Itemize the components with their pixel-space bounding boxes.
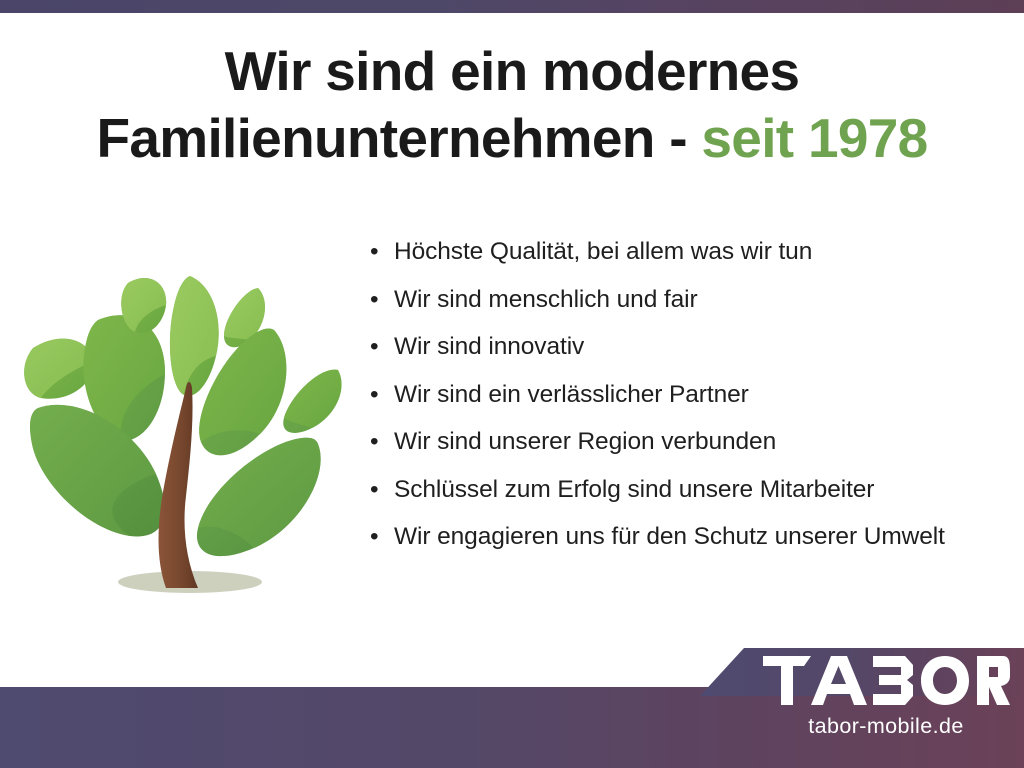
slide-canvas: Wir sind ein modernes Familienunternehme…: [0, 0, 1024, 768]
list-item: • Wir sind innovativ: [366, 335, 1016, 360]
leaf-top-center: [170, 276, 219, 396]
tree-illustration: [18, 248, 348, 608]
list-item: • Wir sind ein verlässlicher Partner: [366, 383, 1016, 408]
list-item-label: Schlüssel zum Erfolg sind unsere Mitarbe…: [394, 476, 874, 503]
bullet-marker-icon: •: [370, 240, 378, 265]
bullet-marker-icon: •: [370, 525, 378, 550]
list-item-label: Wir sind menschlich und fair: [394, 286, 698, 313]
list-item-label: Wir sind ein verlässlicher Partner: [394, 381, 749, 408]
leaf-lower-right-large: [197, 438, 321, 556]
value-bullet-list: • Höchste Qualität, bei allem was wir tu…: [366, 240, 1016, 550]
list-item: • Schlüssel zum Erfolg sind unsere Mitar…: [366, 478, 1016, 503]
list-item-label: Höchste Qualität, bei allem was wir tun: [394, 238, 812, 265]
page-title: Wir sind ein modernes Familienunternehme…: [0, 42, 1024, 169]
title-accent-year: seit 1978: [701, 107, 927, 169]
bullet-marker-icon: •: [370, 478, 378, 503]
title-line-two: Familienunternehmen - seit 1978: [0, 109, 1024, 168]
tabor-wordmark-logo: [763, 656, 1010, 705]
brand-logo: tabor-mobile.de: [760, 656, 1012, 739]
list-item: • Wir sind unserer Region verbunden: [366, 430, 1016, 455]
list-item-label: Wir engagieren uns für den Schutz unsere…: [394, 523, 945, 550]
list-item-label: Wir sind innovativ: [394, 333, 584, 360]
leaf-right-small: [283, 370, 341, 433]
bullet-marker-icon: •: [370, 335, 378, 360]
bullet-marker-icon: •: [370, 430, 378, 455]
tree-trunk: [159, 382, 198, 588]
top-accent-bar: [0, 0, 1024, 13]
list-item: • Wir engagieren uns für den Schutz unse…: [366, 525, 1016, 550]
list-item-label: Wir sind unserer Region verbunden: [394, 428, 776, 455]
bullet-marker-icon: •: [370, 288, 378, 313]
leaf-top-small-left: [121, 278, 166, 333]
bullet-marker-icon: •: [370, 383, 378, 408]
brand-domain-label: tabor-mobile.de: [760, 714, 1012, 739]
title-line-one: Wir sind ein modernes: [0, 42, 1024, 101]
list-item: • Höchste Qualität, bei allem was wir tu…: [366, 240, 1016, 265]
title-line-two-main: Familienunternehmen -: [96, 107, 701, 169]
leaf-left-upper: [24, 339, 93, 399]
list-item: • Wir sind menschlich und fair: [366, 288, 1016, 313]
